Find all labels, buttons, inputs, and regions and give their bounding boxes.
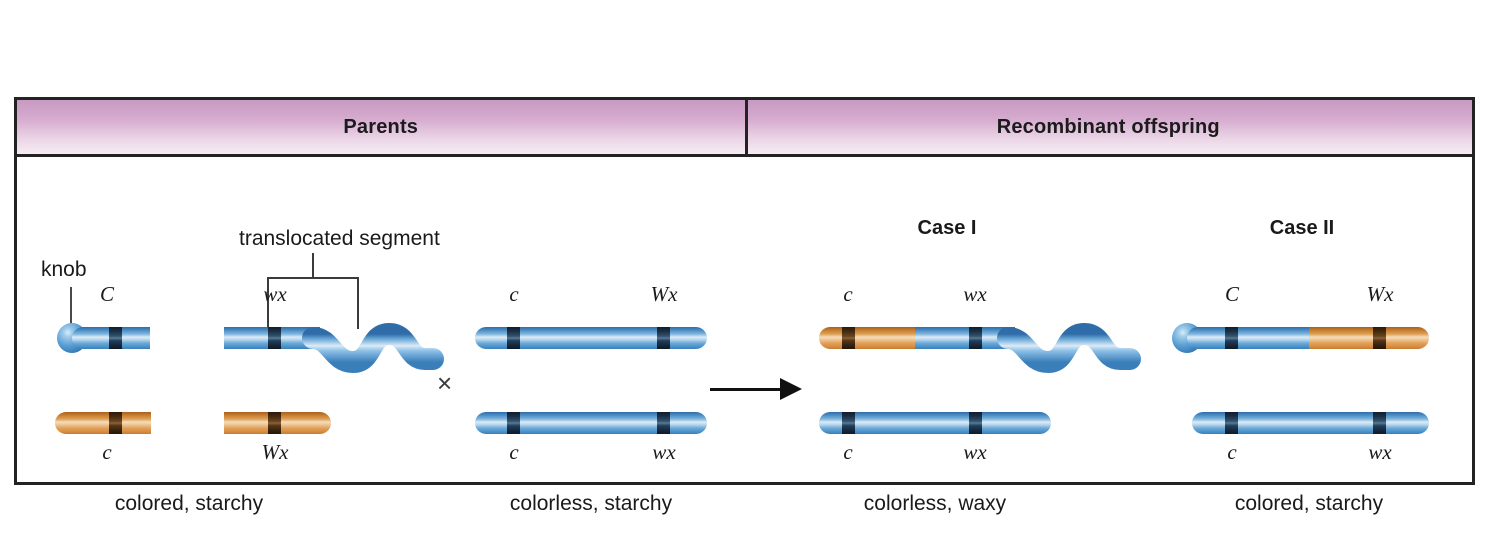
segment-case2-top-orange <box>1309 327 1429 349</box>
allele-case2-bottom-left: c <box>1227 440 1236 465</box>
band-parent1-bottom-wx <box>268 412 281 434</box>
allele-parent2-top-left: c <box>509 282 518 307</box>
allele-parent1-bottom-right: Wx <box>262 440 289 465</box>
allele-parent1-top-left: C <box>100 282 114 307</box>
band-parent2-bottom-c <box>507 412 520 434</box>
band-case1-top-c <box>842 327 855 349</box>
panel-parent-2: c Wx c wx colorless, starchy <box>457 157 737 485</box>
wavy-tail-parent1-top <box>313 309 448 373</box>
panel-parent-1: C wx <box>17 157 417 485</box>
caption-case-2: colored, starchy <box>1235 492 1383 516</box>
allele-case1-bottom-right: wx <box>963 440 986 465</box>
panel-case-2: Case II C Wx c wx colored, starchy <box>1157 157 1457 485</box>
header-divider <box>745 100 748 154</box>
caption-parent-2: colorless, starchy <box>510 492 672 516</box>
segment-case1-top-orange <box>819 327 915 349</box>
panel-area: translocated segment knob C wx <box>17 157 1472 485</box>
allele-parent2-top-right: Wx <box>651 282 678 307</box>
header-band: Parents Recombinant offspring <box>17 100 1472 157</box>
case-title-1: Case I <box>918 217 977 240</box>
allele-case2-top-left: C <box>1225 282 1239 307</box>
band-parent2-bottom-wx <box>657 412 670 434</box>
arrow-shaft <box>710 388 782 391</box>
band-case2-top-wx <box>1373 327 1386 349</box>
allele-case2-top-right: Wx <box>1367 282 1394 307</box>
allele-case2-bottom-right: wx <box>1368 440 1391 465</box>
allele-parent2-bottom-right: wx <box>652 440 675 465</box>
band-parent1-bottom-c <box>109 412 122 434</box>
header-cell-recombinant-offspring: Recombinant offspring <box>745 100 1473 154</box>
segment-parent1-bottom-left <box>55 412 151 434</box>
caption-case-1: colorless, waxy <box>864 492 1006 516</box>
segment-case2-top-blue <box>1187 327 1309 349</box>
band-parent2-top-wx <box>657 327 670 349</box>
band-case1-top-wx <box>969 327 982 349</box>
cross-symbol: × <box>437 370 452 396</box>
arrow-head-icon <box>780 378 802 400</box>
band-case1-bottom-c <box>842 412 855 434</box>
header-cell-parents: Parents <box>17 100 745 154</box>
header-label-parents: Parents <box>343 116 418 139</box>
header-label-recombinant-offspring: Recombinant offspring <box>997 116 1220 139</box>
band-parent1-top-c <box>109 327 122 349</box>
band-parent1-top-wx <box>268 327 281 349</box>
allele-parent1-bottom-left: c <box>102 440 111 465</box>
band-case2-top-c <box>1225 327 1238 349</box>
wavy-tail-case1-top <box>1008 309 1148 373</box>
allele-case1-bottom-left: c <box>843 440 852 465</box>
allele-parent2-bottom-left: c <box>509 440 518 465</box>
panel-case-1: Case I c wx <box>807 157 1097 485</box>
caption-parent-1: colored, starchy <box>115 492 263 516</box>
band-case1-bottom-wx <box>969 412 982 434</box>
allele-case1-top-left: c <box>843 282 852 307</box>
case-title-2: Case II <box>1270 217 1334 240</box>
allele-case1-top-right: wx <box>963 282 986 307</box>
band-case2-bottom-c <box>1225 412 1238 434</box>
band-parent2-top-c <box>507 327 520 349</box>
figure-container: Parents Recombinant offspring translocat… <box>14 97 1475 485</box>
allele-parent1-top-right: wx <box>263 282 286 307</box>
band-case2-bottom-wx <box>1373 412 1386 434</box>
